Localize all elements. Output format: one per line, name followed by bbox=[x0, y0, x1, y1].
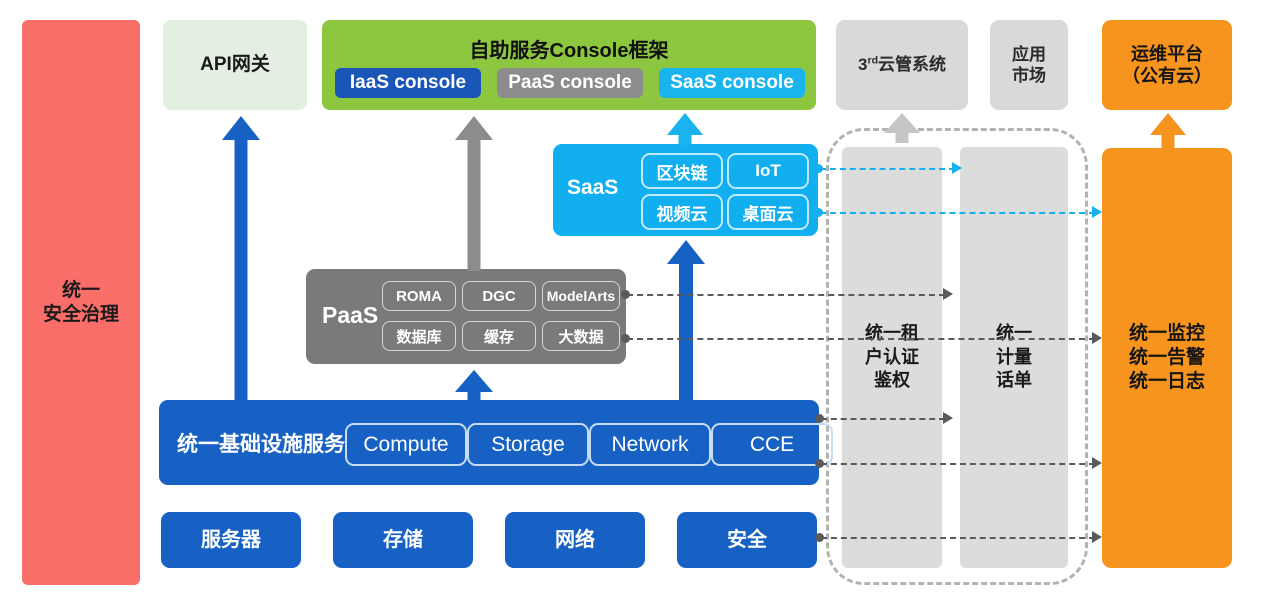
infra-chip-compute-label: Compute bbox=[363, 433, 448, 457]
saas-chip-desktop-cloud[interactable]: 桌面云 bbox=[727, 194, 809, 230]
tenant-auth-column: 统一租 户认证 鉴权 bbox=[842, 147, 942, 568]
paas-chip-cache[interactable]: 缓存 bbox=[462, 321, 536, 351]
paas-chip-modelarts[interactable]: ModelArts bbox=[542, 281, 620, 311]
security-governance-block: 统一 安全治理 bbox=[22, 20, 140, 585]
paas-chip-roma[interactable]: ROMA bbox=[382, 281, 456, 311]
paas-console-label: PaaS console bbox=[508, 72, 632, 94]
infra-chip-network-label: Network bbox=[611, 433, 688, 457]
hardware-block-server[interactable]: 服务器 bbox=[161, 512, 301, 568]
security-governance-line2: 安全治理 bbox=[43, 303, 119, 327]
saas-console-chip[interactable]: SaaS console bbox=[659, 68, 805, 98]
unified-infrastructure-block: 统一基础设施服务 Compute Storage Network CCE bbox=[159, 400, 819, 485]
metering-line1: 统一 bbox=[996, 322, 1032, 345]
paas-block: PaaS ROMA DGC ModelArts 数据库 缓存 大数据 bbox=[306, 269, 626, 364]
metering-line3: 话单 bbox=[996, 369, 1032, 392]
arrow-infra-to-api-gateway bbox=[222, 116, 260, 401]
paas-chip-dgc[interactable]: DGC bbox=[462, 281, 536, 311]
tenant-auth-line1: 统一租 bbox=[865, 322, 919, 345]
monitoring-line1: 统一监控 bbox=[1129, 322, 1205, 346]
hardware-security-label: 安全 bbox=[727, 528, 767, 553]
paas-label: PaaS bbox=[322, 302, 378, 329]
paas-chip-bigdata-label: 大数据 bbox=[558, 326, 603, 347]
saas-block: SaaS 区块链 IoT 视频云 桌面云 bbox=[553, 144, 818, 236]
iaas-console-label: IaaS console bbox=[350, 72, 466, 94]
arrow-saas-to-console bbox=[667, 113, 703, 145]
connector-arrowhead-infra-top bbox=[943, 412, 953, 424]
connector-arrowhead-paas-top bbox=[943, 288, 953, 300]
paas-console-chip[interactable]: PaaS console bbox=[497, 68, 643, 98]
infra-chip-cce[interactable]: CCE bbox=[711, 423, 833, 466]
architecture-diagram: 统一 安全治理 API网关 自助服务Console框架 IaaS console… bbox=[0, 0, 1265, 605]
saas-console-label: SaaS console bbox=[670, 72, 794, 94]
paas-chip-database-label: 数据库 bbox=[396, 326, 441, 347]
arrow-infra-to-paas bbox=[455, 370, 493, 402]
saas-chip-iot[interactable]: IoT bbox=[727, 153, 809, 189]
connector-arrowhead-hardware bbox=[1092, 531, 1102, 543]
infra-chip-storage-label: Storage bbox=[491, 433, 565, 457]
saas-chip-video-cloud[interactable]: 视频云 bbox=[641, 194, 723, 230]
tenant-auth-line3: 鉴权 bbox=[874, 369, 910, 392]
connector-arrowhead-infra-bottom bbox=[1092, 457, 1102, 469]
iaas-console-chip[interactable]: IaaS console bbox=[335, 68, 481, 98]
arrow-paas-to-console bbox=[455, 116, 493, 271]
connector-infra-to-monitoring bbox=[821, 463, 1095, 465]
connector-arrowhead-saas-top bbox=[952, 162, 962, 174]
self-service-console-frame: 自助服务Console框架 IaaS console PaaS console … bbox=[322, 20, 816, 110]
security-governance-line1: 统一 bbox=[62, 279, 100, 303]
connector-hardware-to-monitoring bbox=[821, 537, 1095, 539]
ops-platform-line1: 运维平台 bbox=[1131, 43, 1203, 66]
connector-arrowhead-paas-bottom bbox=[1092, 332, 1102, 344]
third-party-suffix: 云管系统 bbox=[878, 55, 946, 74]
saas-chip-video-cloud-label: 视频云 bbox=[657, 200, 708, 225]
paas-chip-dgc-label: DGC bbox=[482, 288, 515, 305]
third-party-cloud-mgmt-block: 3rd云管系统 bbox=[836, 20, 968, 110]
hardware-block-security[interactable]: 安全 bbox=[677, 512, 817, 568]
metering-billing-column: 统一 计量 话单 bbox=[960, 147, 1068, 568]
third-party-sup: rd bbox=[867, 55, 878, 67]
arrow-infra-to-saas bbox=[667, 240, 705, 402]
paas-chip-modelarts-label: ModelArts bbox=[547, 288, 615, 304]
arrow-zone-to-third-party bbox=[884, 113, 920, 143]
monitoring-column: 统一监控 统一告警 统一日志 bbox=[1102, 148, 1232, 568]
saas-chip-blockchain[interactable]: 区块链 bbox=[641, 153, 723, 189]
api-gateway-label: API网关 bbox=[200, 53, 270, 77]
infra-chip-cce-label: CCE bbox=[750, 433, 794, 457]
hardware-storage-label: 存储 bbox=[383, 528, 423, 553]
arrow-monitoring-to-ops-platform bbox=[1150, 113, 1186, 151]
ops-platform-block: 运维平台 （公有云） bbox=[1102, 20, 1232, 110]
hardware-server-label: 服务器 bbox=[201, 528, 261, 553]
paas-chip-roma-label: ROMA bbox=[396, 288, 442, 305]
saas-chip-desktop-cloud-label: 桌面云 bbox=[743, 200, 794, 225]
ops-platform-line2: （公有云） bbox=[1122, 65, 1212, 88]
hardware-block-storage[interactable]: 存储 bbox=[333, 512, 473, 568]
saas-chip-blockchain-label: 区块链 bbox=[657, 159, 708, 184]
unified-infrastructure-label: 统一基础设施服务 bbox=[177, 428, 345, 458]
paas-chip-bigdata[interactable]: 大数据 bbox=[542, 321, 620, 351]
saas-label: SaaS bbox=[567, 176, 618, 200]
saas-chip-iot-label: IoT bbox=[755, 161, 781, 181]
infra-chip-storage[interactable]: Storage bbox=[467, 423, 589, 466]
hardware-block-network[interactable]: 网络 bbox=[505, 512, 645, 568]
connector-infra-to-tenant-auth bbox=[821, 418, 945, 420]
app-market-line2: 市场 bbox=[1012, 65, 1046, 86]
metering-line2: 计量 bbox=[996, 346, 1032, 369]
paas-chip-database[interactable]: 数据库 bbox=[382, 321, 456, 351]
console-frame-title: 自助服务Console框架 bbox=[322, 34, 816, 63]
connector-arrowhead-saas-bottom bbox=[1092, 206, 1102, 218]
infra-chip-compute[interactable]: Compute bbox=[345, 423, 467, 466]
connector-saas-to-monitoring bbox=[820, 212, 1095, 214]
infra-chip-network[interactable]: Network bbox=[589, 423, 711, 466]
connector-paas-to-tenant-auth bbox=[627, 294, 945, 296]
connector-saas-to-tenant-auth bbox=[820, 168, 955, 170]
api-gateway-block: API网关 bbox=[163, 20, 307, 110]
hardware-network-label: 网络 bbox=[555, 528, 595, 553]
paas-chip-cache-label: 缓存 bbox=[484, 326, 514, 347]
monitoring-line3: 统一日志 bbox=[1129, 370, 1205, 394]
tenant-auth-line2: 户认证 bbox=[865, 346, 919, 369]
third-party-cloud-mgmt-label: 3rd云管系统 bbox=[858, 54, 946, 75]
connector-paas-to-monitoring bbox=[627, 338, 1095, 340]
app-market-line1: 应用 bbox=[1012, 44, 1046, 65]
monitoring-line2: 统一告警 bbox=[1129, 346, 1205, 370]
app-market-block: 应用 市场 bbox=[990, 20, 1068, 110]
